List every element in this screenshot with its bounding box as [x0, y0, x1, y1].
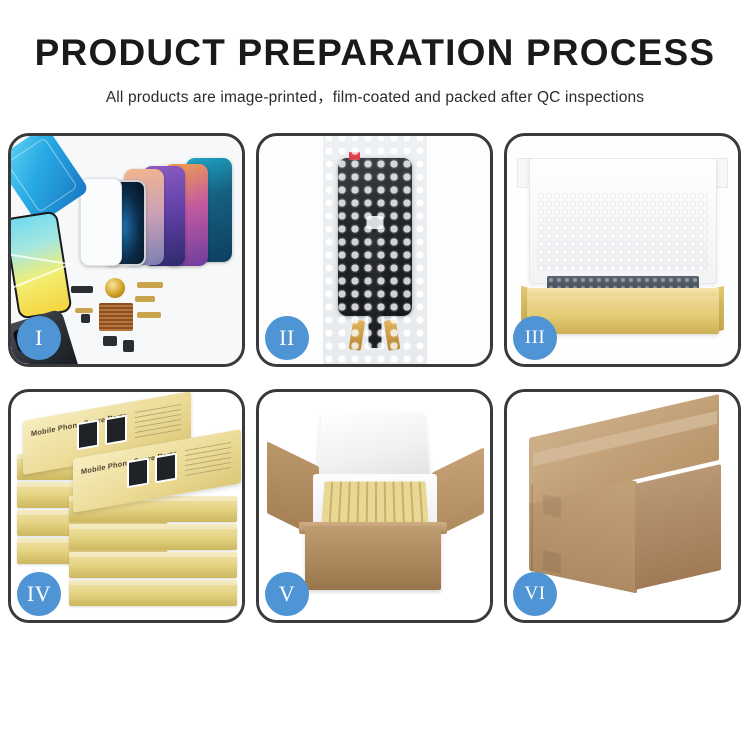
chip-part: [81, 314, 90, 323]
flex-cable: [137, 312, 161, 318]
tempered-glass-sheet: [80, 178, 122, 266]
page-header: PRODUCT PREPARATION PROCESS All products…: [0, 0, 750, 107]
foam-cooler-lid: [316, 412, 430, 479]
flex-ribbon: [368, 232, 381, 348]
box-window-phone: [127, 457, 149, 488]
process-step-panel-3[interactable]: III: [504, 133, 741, 367]
chip-part: [123, 340, 134, 352]
step-badge-4: IV: [17, 572, 61, 616]
box-window-phone: [105, 414, 127, 445]
process-step-panel-4[interactable]: Mobile Phone Spare Parts Mobile Phone Sp…: [8, 389, 245, 623]
carton-side-face: [635, 464, 721, 590]
yellow-boxes-inside: [321, 481, 428, 523]
foam-padding: [537, 192, 709, 270]
process-step-grid: I II III: [8, 133, 742, 623]
box-spec-lines: [135, 404, 181, 440]
stacked-box: [69, 580, 237, 606]
process-step-panel-2[interactable]: II: [256, 133, 493, 367]
process-step-panel-6[interactable]: VI: [504, 389, 741, 623]
box-window-phone: [77, 419, 99, 450]
carton-seam: [531, 484, 533, 580]
process-step-panel-5[interactable]: V: [256, 389, 493, 623]
step-badge-3: III: [513, 316, 557, 360]
wireless-charging-coil: [105, 278, 125, 298]
flex-cable: [75, 308, 93, 313]
stacked-box: [69, 552, 237, 578]
step-badge-1: I: [17, 316, 61, 360]
logic-board: [99, 303, 133, 331]
carton-front-panel: [305, 528, 441, 590]
flex-cable: [137, 282, 163, 288]
chip-part: [71, 286, 93, 293]
box-front-panel: [527, 296, 719, 334]
process-step-panel-1[interactable]: I: [8, 133, 245, 367]
carton-tab: [543, 494, 561, 518]
stacked-box: [69, 524, 237, 550]
connector: [366, 216, 383, 229]
page-title: PRODUCT PREPARATION PROCESS: [0, 34, 750, 73]
step-badge-6: VI: [513, 572, 557, 616]
box-window-phone: [155, 452, 177, 483]
red-qc-sticker: [349, 152, 360, 160]
flex-cable: [135, 296, 155, 302]
carton-tab: [543, 550, 561, 574]
chip-part: [103, 336, 117, 346]
step-badge-5: V: [265, 572, 309, 616]
box-spec-lines: [185, 442, 231, 478]
page-subtitle: All products are image-printed，film-coat…: [0, 85, 750, 107]
step-badge-2: II: [265, 316, 309, 360]
